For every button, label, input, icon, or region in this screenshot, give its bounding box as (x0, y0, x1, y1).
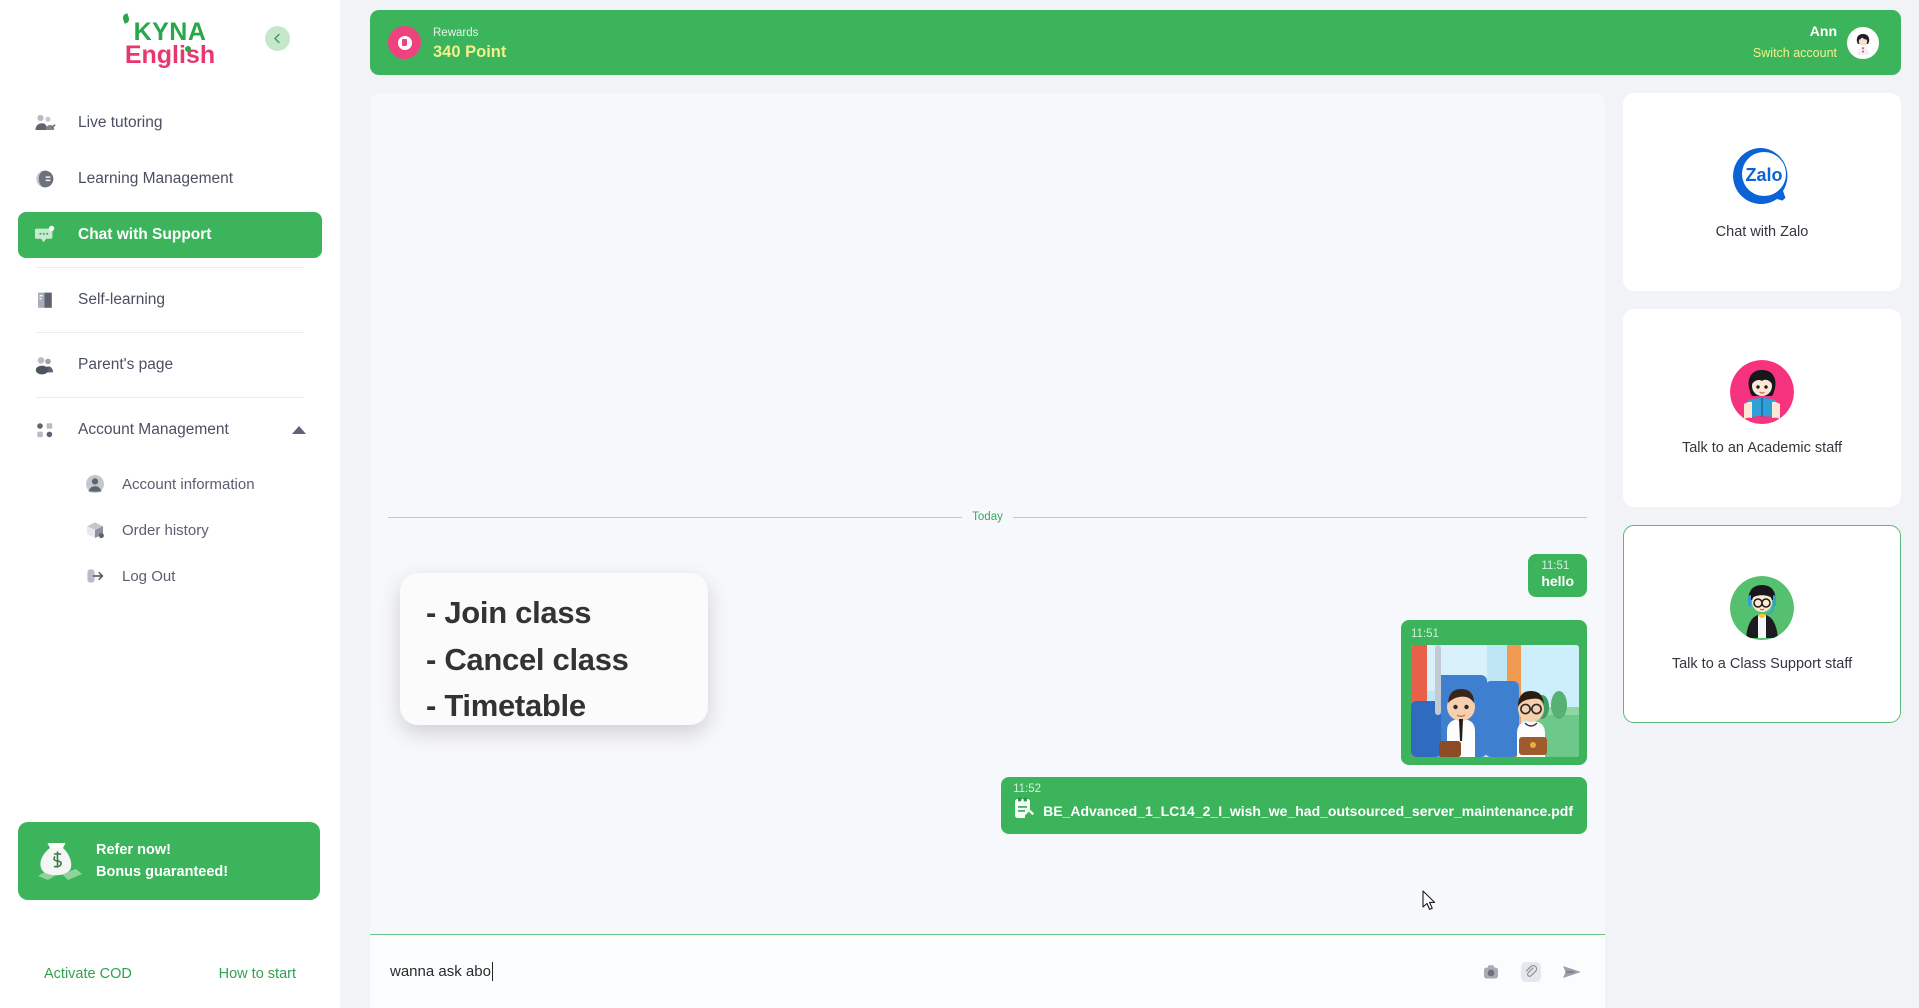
brand-logo[interactable]: KYNA English (125, 20, 215, 68)
sidebar: KYNA English (0, 0, 340, 1008)
refer-now-banner[interactable]: Refer now! Bonus guaranteed! (18, 822, 320, 900)
rail-card-label: Chat with Zalo (1716, 224, 1809, 240)
sidebar-divider (36, 267, 304, 268)
class-support-avatar (1730, 576, 1794, 640)
chat-support-icon (34, 224, 64, 246)
attachment-icon[interactable] (1519, 960, 1543, 984)
academic-staff-avatar (1730, 360, 1794, 424)
sidebar-item-label: Account Management (78, 421, 229, 439)
sidebar-item-chat-with-support[interactable]: Chat with Support (18, 212, 322, 258)
how-to-start-link[interactable]: How to start (219, 966, 296, 982)
brand-logo-line2: English (125, 43, 215, 68)
message-text: hello (1541, 573, 1574, 589)
sidebar-item-label: Live tutoring (78, 114, 162, 132)
sidebar-item-parents-page[interactable]: Parent's page (18, 342, 322, 388)
divider-line-right (1013, 517, 1587, 518)
rail-card-chat-with-zalo[interactable]: Zalo Chat with Zalo (1623, 93, 1901, 291)
rewards-label: Rewards (433, 27, 478, 39)
rail-card-academic-staff[interactable]: Talk to an Academic staff (1623, 309, 1901, 507)
sidebar-subitem-account-information[interactable]: Account information (18, 461, 322, 507)
content-area: Today 11:51 hello 11:51 (340, 75, 1919, 1008)
message-row: 11:52 (1001, 777, 1587, 834)
zalo-logo: Zalo (1730, 144, 1794, 208)
rail-card-class-support-staff[interactable]: Talk to a Class Support staff (1623, 525, 1901, 723)
leaf-icon (121, 13, 130, 24)
sidebar-subitem-label: Order history (122, 522, 209, 539)
learning-management-icon (34, 168, 64, 190)
app-root: KYNA English (0, 0, 1919, 1008)
sidebar-item-label: Parent's page (78, 356, 173, 374)
switch-account-link[interactable]: Switch account (1753, 46, 1837, 60)
activate-cod-link[interactable]: Activate COD (44, 966, 132, 982)
sidebar-subitem-log-out[interactable]: Log Out (18, 553, 322, 599)
sidebar-item-live-tutoring[interactable]: Live tutoring (18, 100, 322, 146)
image-thumbnail[interactable] (1411, 645, 1579, 757)
grid-dots-icon (34, 419, 64, 441)
sidebar-collapse-button[interactable] (265, 26, 290, 51)
parents-icon (34, 355, 64, 375)
refer-line2: Bonus guaranteed! (96, 864, 228, 880)
user-circle-icon (84, 473, 110, 495)
message-input-value: wanna ask abo (390, 963, 491, 980)
support-options-rail: Zalo Chat with Zalo (1623, 93, 1901, 1008)
refer-banner-text: Refer now! Bonus guaranteed! (96, 839, 228, 884)
message-time: 11:51 (1411, 628, 1579, 640)
logout-icon (84, 565, 110, 587)
sidebar-item-self-learning[interactable]: Self-learning (18, 277, 322, 323)
message-row: 11:51 hello (1528, 554, 1587, 597)
account-switcher[interactable]: Ann Switch account (1753, 22, 1879, 64)
sidebar-subitem-order-history[interactable]: Order history (18, 507, 322, 553)
chat-message-list[interactable]: Today 11:51 hello 11:51 (370, 93, 1605, 934)
rail-card-label: Talk to a Class Support staff (1672, 656, 1852, 672)
sidebar-item-account-management[interactable]: Account Management (18, 407, 322, 453)
text-cursor (492, 962, 494, 981)
chevron-left-icon (272, 33, 283, 44)
coin-icon (388, 26, 421, 59)
chat-panel: Today 11:51 hello 11:51 (370, 93, 1605, 1008)
sidebar-item-label: Self-learning (78, 291, 165, 309)
chat-bubble-file[interactable]: 11:52 (1001, 777, 1587, 834)
camera-icon[interactable] (1481, 962, 1501, 982)
user-name: Ann (1810, 23, 1837, 39)
file-name: BE_Advanced_1_LC14_2_I_wish_we_had_outso… (1043, 803, 1573, 819)
sidebar-item-label: Learning Management (78, 170, 233, 188)
top-bar: Rewards 340 Point Ann Switch account (370, 10, 1901, 75)
sidebar-divider (36, 397, 304, 398)
sidebar-subitem-label: Log Out (122, 568, 175, 585)
chevron-up-icon[interactable] (292, 426, 306, 434)
chat-bubble-image[interactable]: 11:51 (1401, 620, 1587, 765)
rail-card-label: Talk to an Academic staff (1682, 440, 1842, 456)
svg-text:Zalo: Zalo (1745, 165, 1782, 185)
money-bag-icon (18, 836, 96, 886)
sidebar-nav: Live tutoring Learning Management (0, 88, 340, 599)
composer-tools (1481, 960, 1583, 984)
chat-bubble-text[interactable]: 11:51 hello (1528, 554, 1587, 597)
brand-logo-row: KYNA English (0, 0, 340, 88)
rewards-block[interactable]: Rewards 340 Point (388, 22, 506, 63)
message-input[interactable]: wanna ask abo (390, 962, 1481, 981)
pdf-file-icon (1013, 797, 1034, 825)
message-composer: wanna ask abo (370, 934, 1605, 1008)
callout-line-2: - Cancel class (426, 637, 708, 684)
divider-line-left (388, 517, 962, 518)
sidebar-divider (36, 332, 304, 333)
callout-line-1: - Join class (426, 590, 708, 637)
send-icon[interactable] (1561, 962, 1583, 982)
box-icon (84, 519, 110, 541)
avatar[interactable] (1847, 27, 1879, 59)
date-divider: Today (388, 511, 1587, 523)
dot-icon (185, 46, 191, 52)
sidebar-item-label: Chat with Support (78, 226, 211, 244)
refer-line1: Refer now! (96, 842, 171, 858)
book-icon (34, 289, 64, 311)
sidebar-subitem-label: Account information (122, 476, 255, 493)
callout-line-3: - Timetable (426, 683, 708, 730)
main-area: Rewards 340 Point Ann Switch account (340, 0, 1919, 1008)
sidebar-item-learning-management[interactable]: Learning Management (18, 156, 322, 202)
message-time: 11:52 (1013, 783, 1573, 795)
live-tutoring-icon (34, 113, 64, 133)
date-divider-label: Today (962, 511, 1013, 523)
message-time: 11:51 (1541, 560, 1574, 572)
message-row: 11:51 (1401, 620, 1587, 765)
sidebar-bottom-links: Activate COD How to start (0, 966, 340, 982)
rewards-value: 340 Point (433, 43, 506, 61)
callout-card: - Join class - Cancel class - Timetable (400, 573, 708, 725)
